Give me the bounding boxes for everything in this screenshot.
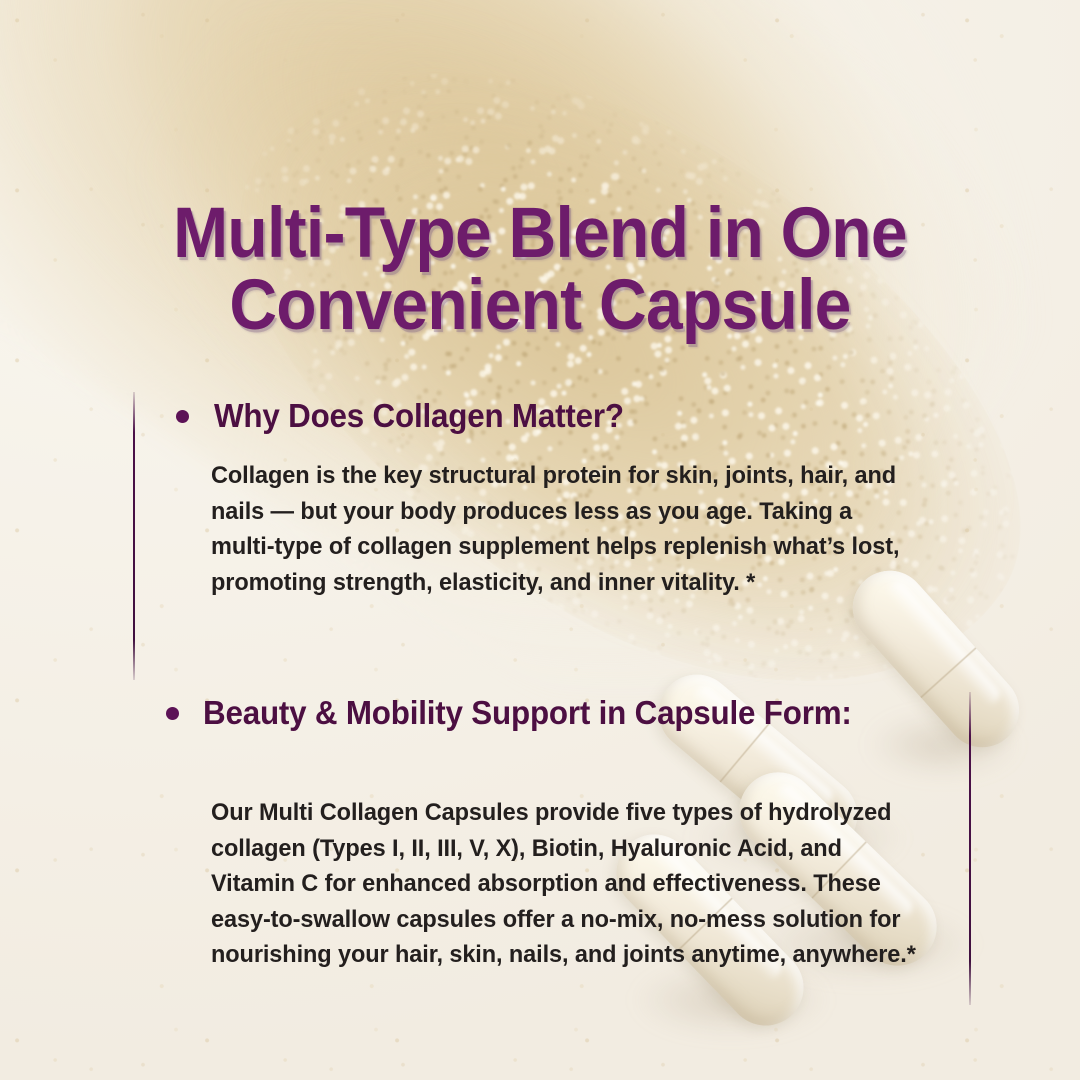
page-title: Multi-Type Blend in One Convenient Capsu…: [38, 198, 1042, 343]
bullet-dot-icon: [176, 410, 189, 423]
bullet-body-1: Collagen is the key structural protein f…: [211, 458, 921, 600]
accent-rule-right: [969, 692, 971, 1005]
collagen-infographic-poster: Multi-Type Blend in One Convenient Capsu…: [0, 0, 1080, 1080]
bullet-dot-icon: [166, 707, 179, 720]
bullet-body-2: Our Multi Collagen Capsules provide five…: [211, 795, 921, 973]
bullet-heading-1: Why Does Collagen Matter?: [214, 398, 879, 435]
bullet-heading-2: Beauty & Mobility Support in Capsule For…: [203, 695, 906, 732]
accent-rule-left: [133, 392, 135, 680]
